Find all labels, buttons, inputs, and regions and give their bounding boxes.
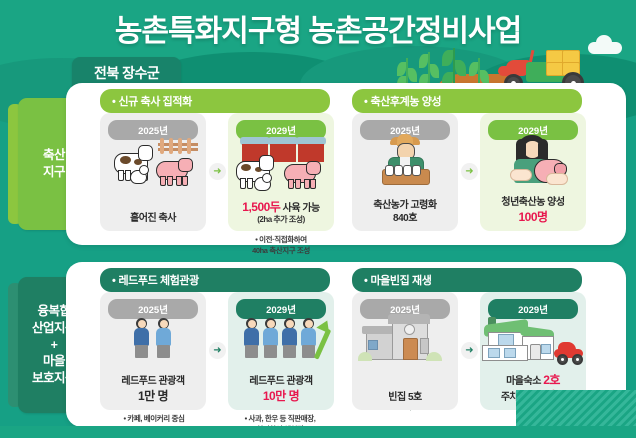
note-line: 40ha 축산지구 조성 [252,246,310,255]
stage-card-before: 2025년 축산농가 고령화 [352,113,458,231]
transition-arrow-icon: ➜ [209,163,226,180]
stage-card-before: 2025년 레드푸드 관광객 [100,292,206,410]
transition-arrow-icon: ➜ [461,163,478,180]
stage-caption: 레드푸드 관광객 1만 명 [100,376,206,404]
caption-highlight: 2호 [543,373,560,387]
stage-caption: 흩어진 축사 [100,213,206,226]
section-heading: •마을빈집 재생 [352,268,582,292]
four-tourists-arrow-icon [228,316,334,368]
bullet-icon: • [364,275,367,287]
section-note-left: • 카페, 베이커리 중심 [96,414,212,425]
caption-highlight: 100명 [518,210,547,224]
zone-label-line: 마을 [43,354,65,368]
young-farmer-pig-icon [480,137,586,189]
transition-arrow-icon: ➜ [461,342,478,359]
section-heading: •축산후계농 양성 [352,89,582,113]
panel-livestock: •신규 축사 집적화 2025년 [66,83,626,245]
caption-rest: 사육 가능 [280,203,319,214]
note-line: • 사과, 한우 등 직판매장, [245,414,316,423]
stage-caption: 1,500두 사육 가능 (2ha 추가 조성) [228,200,334,226]
caption-highlight: 1,500두 [242,200,280,214]
stage-card-before: 2025년 [100,113,206,231]
stage-card-after: 2029년 청년축산농 양성 100명 [480,113,586,231]
stage-caption: 청년축산농 양성 100명 [480,197,586,225]
bullet-icon: • [364,96,367,108]
stage-caption: 빈집 5호 [352,392,458,405]
stage-caption: 축산농가 고령화 840호 [352,200,458,225]
two-tourists-icon [100,316,206,368]
caption-line: 청년축산농 양성 [501,197,564,208]
elderly-farmer-icon [352,137,458,189]
zone-label-line: + [51,338,58,352]
zone-label-line: 축산 [43,148,65,162]
infographic-poster: 농촌특화지구형 농촌공간정비사업 전북 장수군 축산 지구 •신규 축사 집적화… [0,0,636,438]
caption-line: 레드푸드 관광객 [121,376,184,387]
stage-caption: 레드푸드 관광객 10만 명 [228,376,334,404]
transition-arrow-icon: ➜ [209,342,226,359]
caption-highlight: 10만 명 [263,389,299,403]
caption-sub: (2ha 추가 조성) [228,215,334,225]
growth-arrow-icon [314,320,332,360]
stage-card-after: 2029년 [228,113,334,231]
section-successor-farmers: •축산후계농 양성 2025년 [352,83,582,245]
car-icon [554,340,584,362]
bullet-icon: • [112,275,115,287]
page-title: 농촌특화지구형 농촌공간정비사업 [0,6,636,50]
stage-card-before: 2025년 빈집 5호 [352,292,458,410]
note-line: • 이전·직접화하여 [255,235,307,244]
section-heading: •신규 축사 집적화 [100,89,330,113]
caption-line: 840호 [393,213,417,224]
bottom-strip [0,426,636,438]
section-redfood-tourism: •레드푸드 체험관광 2025년 [100,262,330,427]
note-line: • 카페, 베이커리 중심 [124,414,185,423]
caption-highlight: 1만 명 [138,389,168,403]
bullet-icon: • [112,96,115,108]
zone-label-line: 지구 [43,165,65,179]
caption-line: 마을숙소 [506,376,543,387]
stage-card-after: 2029년 [228,292,334,410]
section-new-barn-clustering: •신규 축사 집적화 2025년 [100,83,330,245]
section-heading: •레드푸드 체험관광 [100,268,330,292]
barn-livestock-icon [228,137,334,189]
caption-line: 레드푸드 관광객 [249,376,312,387]
renovated-house-car-icon [480,316,586,368]
caption-line: 축산농가 고령화 [373,200,436,211]
empty-house-icon [352,316,458,368]
section-note: • 이전·직접화하여 40ha 축산지구 조성 [218,235,344,256]
scattered-livestock-icon [100,137,206,189]
